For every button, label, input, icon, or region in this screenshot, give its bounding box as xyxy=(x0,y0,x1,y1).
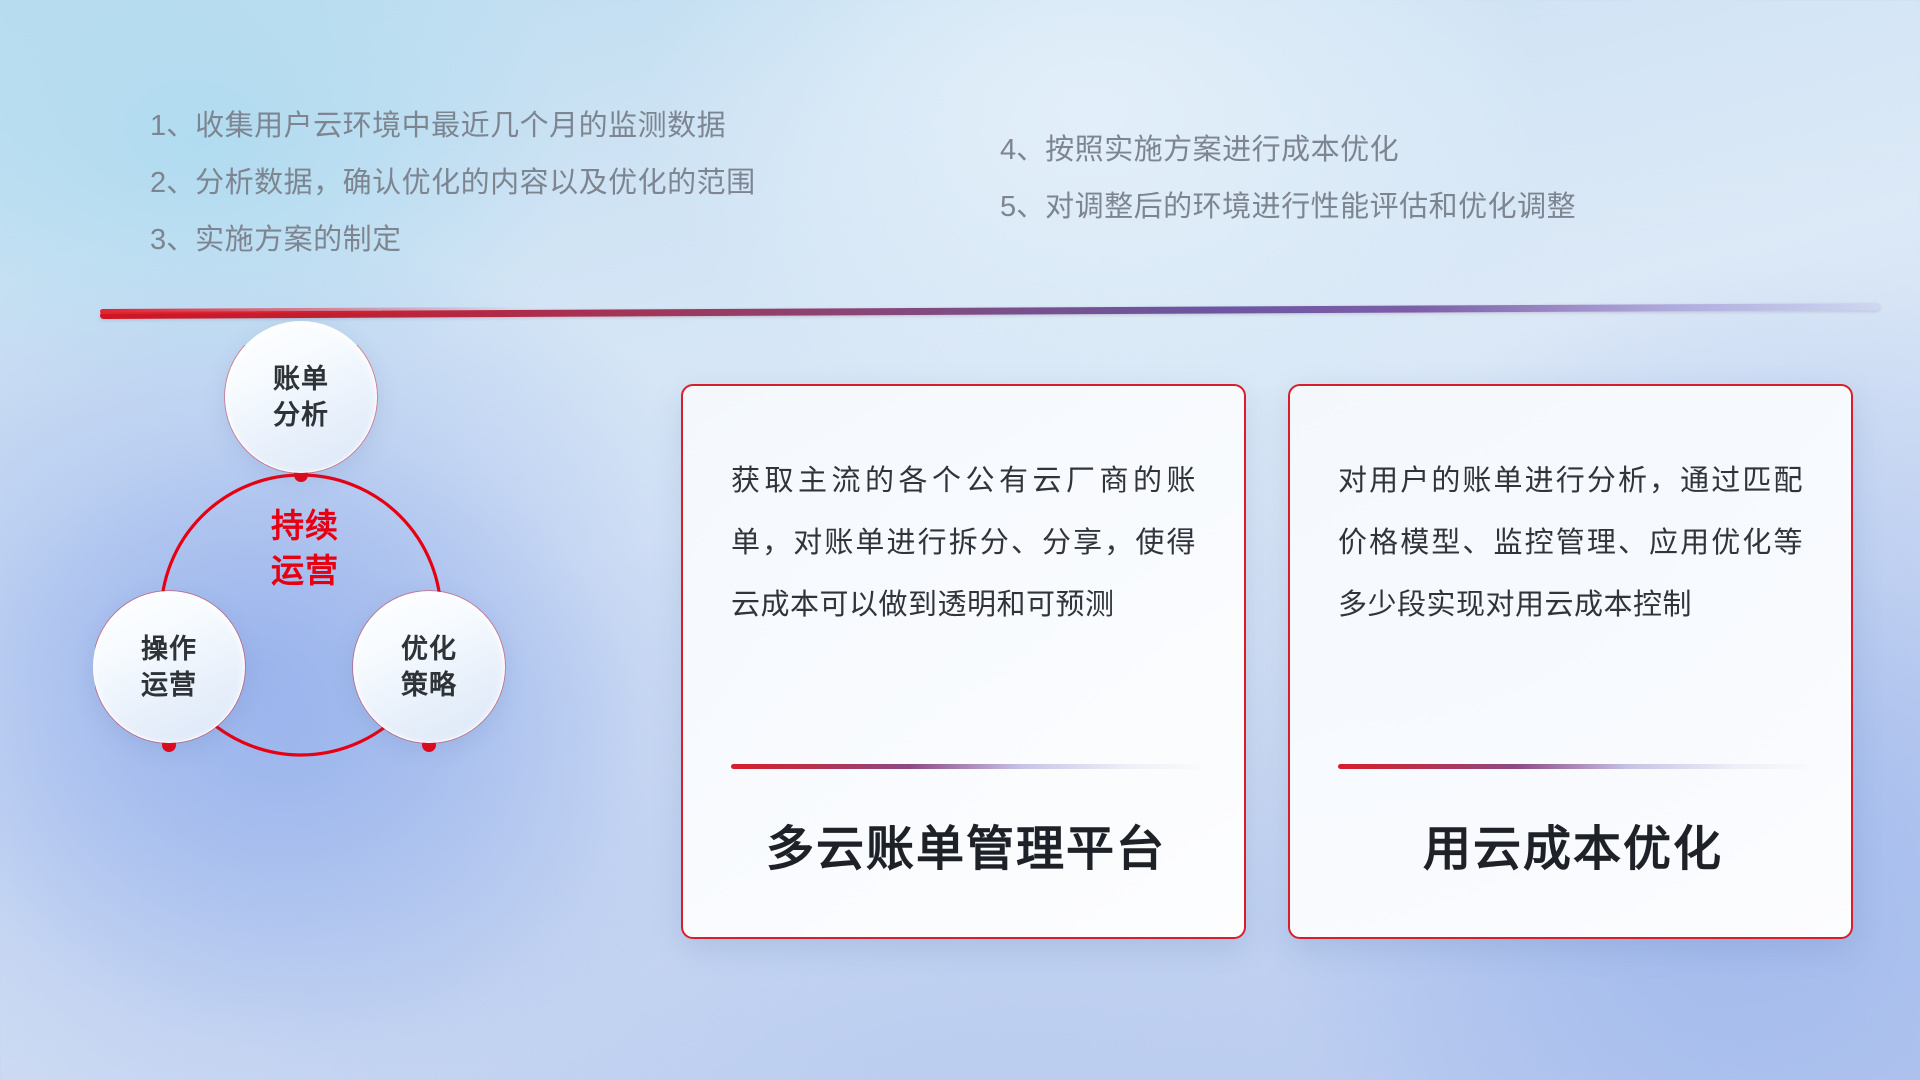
step-number-1: 1、 xyxy=(150,110,195,142)
step-text-5: 对调整后的环境进行性能评估和优化调整 xyxy=(1045,191,1576,223)
venn-bubble-operations[interactable]: 操作 运营 xyxy=(93,591,245,743)
venn-bubble-top-line2: 分析 xyxy=(273,397,329,433)
step-item-3: 3、实施方案的制定 xyxy=(150,212,756,269)
venn-bubble-label-bottom-left: 操作 运营 xyxy=(141,631,197,703)
step-item-2: 2、分析数据，确认优化的内容以及优化的范围 xyxy=(150,155,756,212)
step-text-3: 实施方案的制定 xyxy=(195,224,402,256)
venn-diagram: 账单 分析 操作 运营 优化 策略 持续 运营 xyxy=(95,345,535,795)
card-body-1: 获取主流的各个公有云厂商的账单，对账单进行拆分、分享，使得云成本可以做到透明和可… xyxy=(731,450,1196,636)
venn-bubble-right-line1: 优化 xyxy=(401,631,457,667)
venn-bubble-left-line2: 运营 xyxy=(141,667,197,703)
step-number-5: 5、 xyxy=(1000,191,1045,223)
venn-bubble-optimization-strategy[interactable]: 优化 策略 xyxy=(353,591,505,743)
card-rule-1 xyxy=(731,764,1201,769)
step-text-1: 收集用户云环境中最近几个月的监测数据 xyxy=(195,110,726,142)
step-item-1: 1、收集用户云环境中最近几个月的监测数据 xyxy=(150,98,756,155)
venn-bubble-top-line1: 账单 xyxy=(273,361,329,397)
steps-left-column: 1、收集用户云环境中最近几个月的监测数据 2、分析数据，确认优化的内容以及优化的… xyxy=(150,98,756,269)
venn-bubble-billing-analysis[interactable]: 账单 分析 xyxy=(225,321,377,473)
venn-bubble-label-top: 账单 分析 xyxy=(273,361,329,433)
step-item-5: 5、对调整后的环境进行性能评估和优化调整 xyxy=(1000,179,1576,236)
step-text-2: 分析数据，确认优化的内容以及优化的范围 xyxy=(195,167,756,199)
step-number-3: 3、 xyxy=(150,224,195,256)
step-item-4: 4、按照实施方案进行成本优化 xyxy=(1000,122,1576,179)
step-number-4: 4、 xyxy=(1000,134,1045,166)
card-title-2: 用云成本优化 xyxy=(1338,809,1808,879)
card-cloud-cost-optimization[interactable]: 对用户的账单进行分析，通过匹配价格模型、监控管理、应用优化等多少段实现对用云成本… xyxy=(1288,384,1853,939)
card-title-1: 多云账单管理平台 xyxy=(731,809,1201,879)
venn-bubble-left-line1: 操作 xyxy=(141,631,197,667)
section-divider-line xyxy=(100,303,1880,319)
venn-bubble-label-bottom-right: 优化 策略 xyxy=(401,631,457,703)
steps-section: 1、收集用户云环境中最近几个月的监测数据 2、分析数据，确认优化的内容以及优化的… xyxy=(0,0,1920,300)
card-rule-2 xyxy=(1338,764,1808,769)
step-number-2: 2、 xyxy=(150,167,195,199)
venn-center-line1: 持续 xyxy=(271,503,339,548)
card-body-2: 对用户的账单进行分析，通过匹配价格模型、监控管理、应用优化等多少段实现对用云成本… xyxy=(1338,450,1803,636)
venn-bubble-right-line2: 策略 xyxy=(401,667,457,703)
step-text-4: 按照实施方案进行成本优化 xyxy=(1045,134,1399,166)
venn-center-label: 持续 运营 xyxy=(235,493,375,603)
card-multi-cloud-billing[interactable]: 获取主流的各个公有云厂商的账单，对账单进行拆分、分享，使得云成本可以做到透明和可… xyxy=(681,384,1246,939)
venn-center-line2: 运营 xyxy=(271,548,339,593)
steps-right-column: 4、按照实施方案进行成本优化 5、对调整后的环境进行性能评估和优化调整 xyxy=(1000,122,1576,236)
